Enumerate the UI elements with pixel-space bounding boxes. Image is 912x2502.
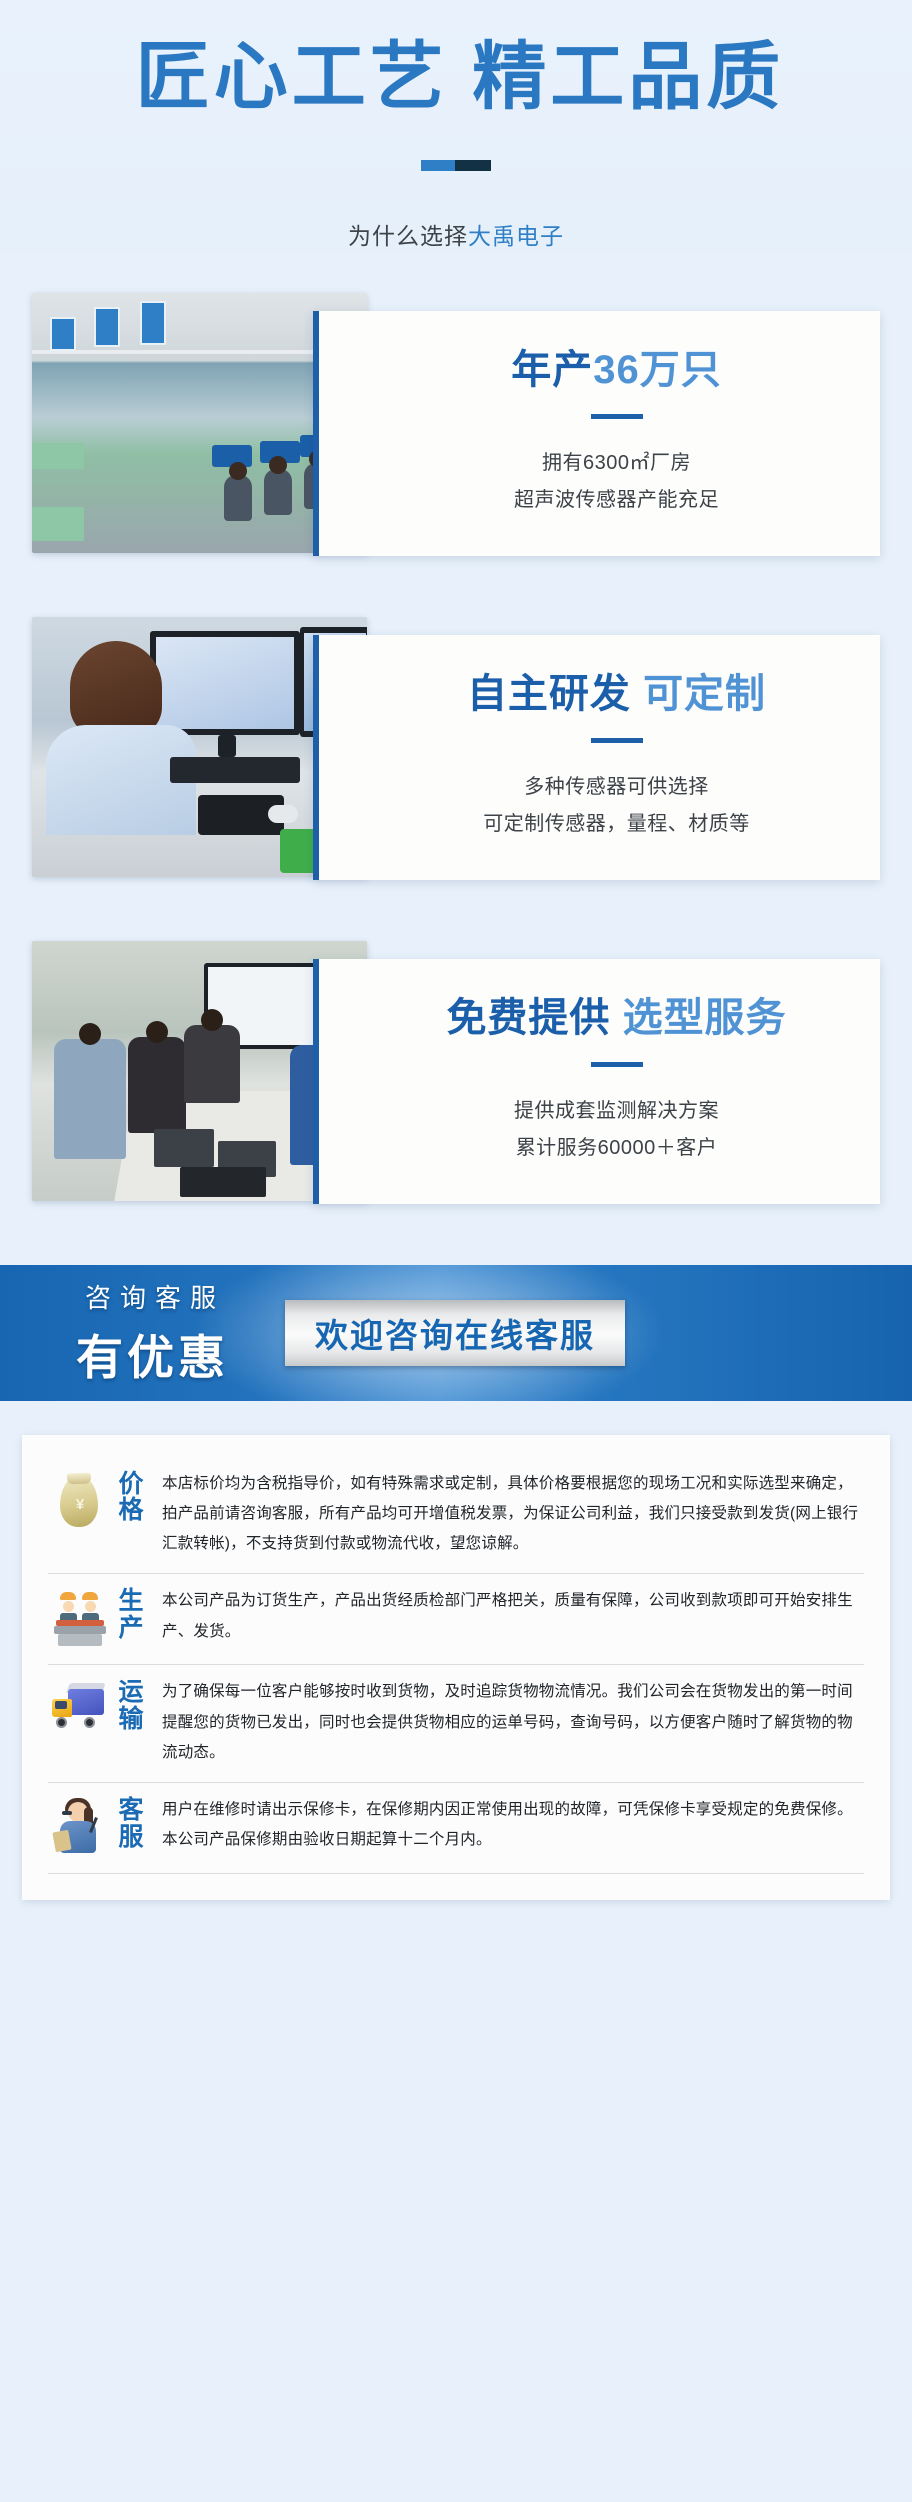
- info-text: 本店标价均为含税指导价，如有特殊需求或定制，具体价格要根据您的现场工况和实际选型…: [162, 1469, 864, 1560]
- feature-title-dark: 免费提供: [446, 996, 610, 1040]
- feature-divider: [591, 738, 643, 743]
- contact-service-button-label: 欢迎咨询在线客服: [315, 1309, 595, 1357]
- info-label: 生产: [114, 1588, 148, 1641]
- feature-title-dark: 年产: [511, 348, 593, 392]
- info-text: 本公司产品为订货生产，产品出货经质检部门严格把关，质量有保障，公司收到款项即可开…: [162, 1586, 864, 1646]
- hero-subtitle-prefix: 为什么选择: [348, 223, 468, 249]
- cta-text: 咨询客服 有优惠: [72, 1278, 229, 1388]
- feature-line: 可定制传感器，量程、材质等: [483, 806, 750, 843]
- cta-line1: 咨询客服: [72, 1278, 229, 1315]
- hero-subtitle-brand: 大禹电子: [468, 223, 564, 249]
- feature-line: 拥有6300㎡厂房: [514, 445, 719, 482]
- customer-service-icon: [48, 1797, 110, 1859]
- info-row-service: 客服 用户在维修时请出示保修卡，在保修期内因正常使用出现的故障，可凭保修卡享受规…: [48, 1783, 864, 1874]
- info-row-production: 生产 本公司产品为订货生产，产品出货经质检部门严格把关，质量有保障，公司收到款项…: [48, 1574, 864, 1665]
- info-label: 运输: [114, 1679, 148, 1732]
- info-label: 价格: [114, 1471, 148, 1524]
- feature-line: 累计服务60000＋客户: [514, 1130, 719, 1167]
- feature-title-light: 36万只: [593, 348, 722, 392]
- feature-panel: 自主研发 可定制 多种传感器可供选择 可定制传感器，量程、材质等: [313, 635, 880, 880]
- feature-title-dark: 自主研发: [467, 672, 631, 716]
- feature-title-light: 可定制: [643, 672, 766, 716]
- info-text: 为了确保每一位客户能够按时收到货物，及时追踪货物物流情况。我们公司会在货物发出的…: [162, 1677, 864, 1768]
- feature-row: 免费提供 选型服务 提供成套监测解决方案 累计服务60000＋客户: [0, 941, 912, 1223]
- title-divider: [421, 160, 491, 171]
- feature-row: 自主研发 可定制 多种传感器可供选择 可定制传感器，量程、材质等: [0, 617, 912, 899]
- feature-lines: 提供成套监测解决方案 累计服务60000＋客户: [514, 1093, 719, 1167]
- truck-icon: [48, 1679, 110, 1741]
- feature-title: 自主研发 可定制: [467, 672, 766, 716]
- feature-panel: 免费提供 选型服务 提供成套监测解决方案 累计服务60000＋客户: [313, 959, 880, 1204]
- money-bag-icon: ¥: [48, 1471, 110, 1533]
- feature-line: 提供成套监测解决方案: [514, 1093, 719, 1130]
- info-row-shipping: 运输 为了确保每一位客户能够按时收到货物，及时追踪货物物流情况。我们公司会在货物…: [48, 1665, 864, 1783]
- hero-subtitle: 为什么选择大禹电子: [0, 217, 912, 251]
- feature-divider: [591, 1062, 643, 1067]
- info-text: 用户在维修时请出示保修卡，在保修期内因正常使用出现的故障，可凭保修卡享受规定的免…: [162, 1795, 864, 1855]
- feature-line: 超声波传感器产能充足: [514, 482, 719, 519]
- page-title: 匠心工艺 精工品质: [0, 38, 912, 116]
- info-row-price: ¥ 价格 本店标价均为含税指导价，如有特殊需求或定制，具体价格要根据您的现场工况…: [48, 1457, 864, 1575]
- feature-divider: [591, 414, 643, 419]
- feature-title-light: 选型服务: [623, 996, 787, 1040]
- hero-section: 匠心工艺 精工品质 为什么选择大禹电子: [0, 0, 912, 251]
- workers-icon: [48, 1588, 110, 1650]
- info-section: ¥ 价格 本店标价均为含税指导价，如有特殊需求或定制，具体价格要根据您的现场工况…: [0, 1401, 912, 1940]
- landing-page: 匠心工艺 精工品质 为什么选择大禹电子: [0, 0, 912, 1940]
- info-label: 客服: [114, 1797, 148, 1850]
- feature-title: 免费提供 选型服务: [446, 996, 786, 1040]
- feature-title: 年产36万只: [511, 348, 722, 392]
- info-panel: ¥ 价格 本店标价均为含税指导价，如有特殊需求或定制，具体价格要根据您的现场工况…: [22, 1435, 890, 1900]
- feature-lines: 拥有6300㎡厂房 超声波传感器产能充足: [514, 445, 719, 519]
- feature-line: 多种传感器可供选择: [483, 769, 750, 806]
- contact-service-button[interactable]: 欢迎咨询在线客服: [285, 1300, 625, 1366]
- feature-lines: 多种传感器可供选择 可定制传感器，量程、材质等: [483, 769, 750, 843]
- feature-panel: 年产36万只 拥有6300㎡厂房 超声波传感器产能充足: [313, 311, 880, 556]
- feature-row: 年产36万只 拥有6300㎡厂房 超声波传感器产能充足: [0, 293, 912, 575]
- cta-banner: 咨询客服 有优惠 欢迎咨询在线客服: [0, 1265, 912, 1401]
- features-section: 年产36万只 拥有6300㎡厂房 超声波传感器产能充足: [0, 251, 912, 1223]
- cta-line2: 有优惠: [72, 1319, 229, 1388]
